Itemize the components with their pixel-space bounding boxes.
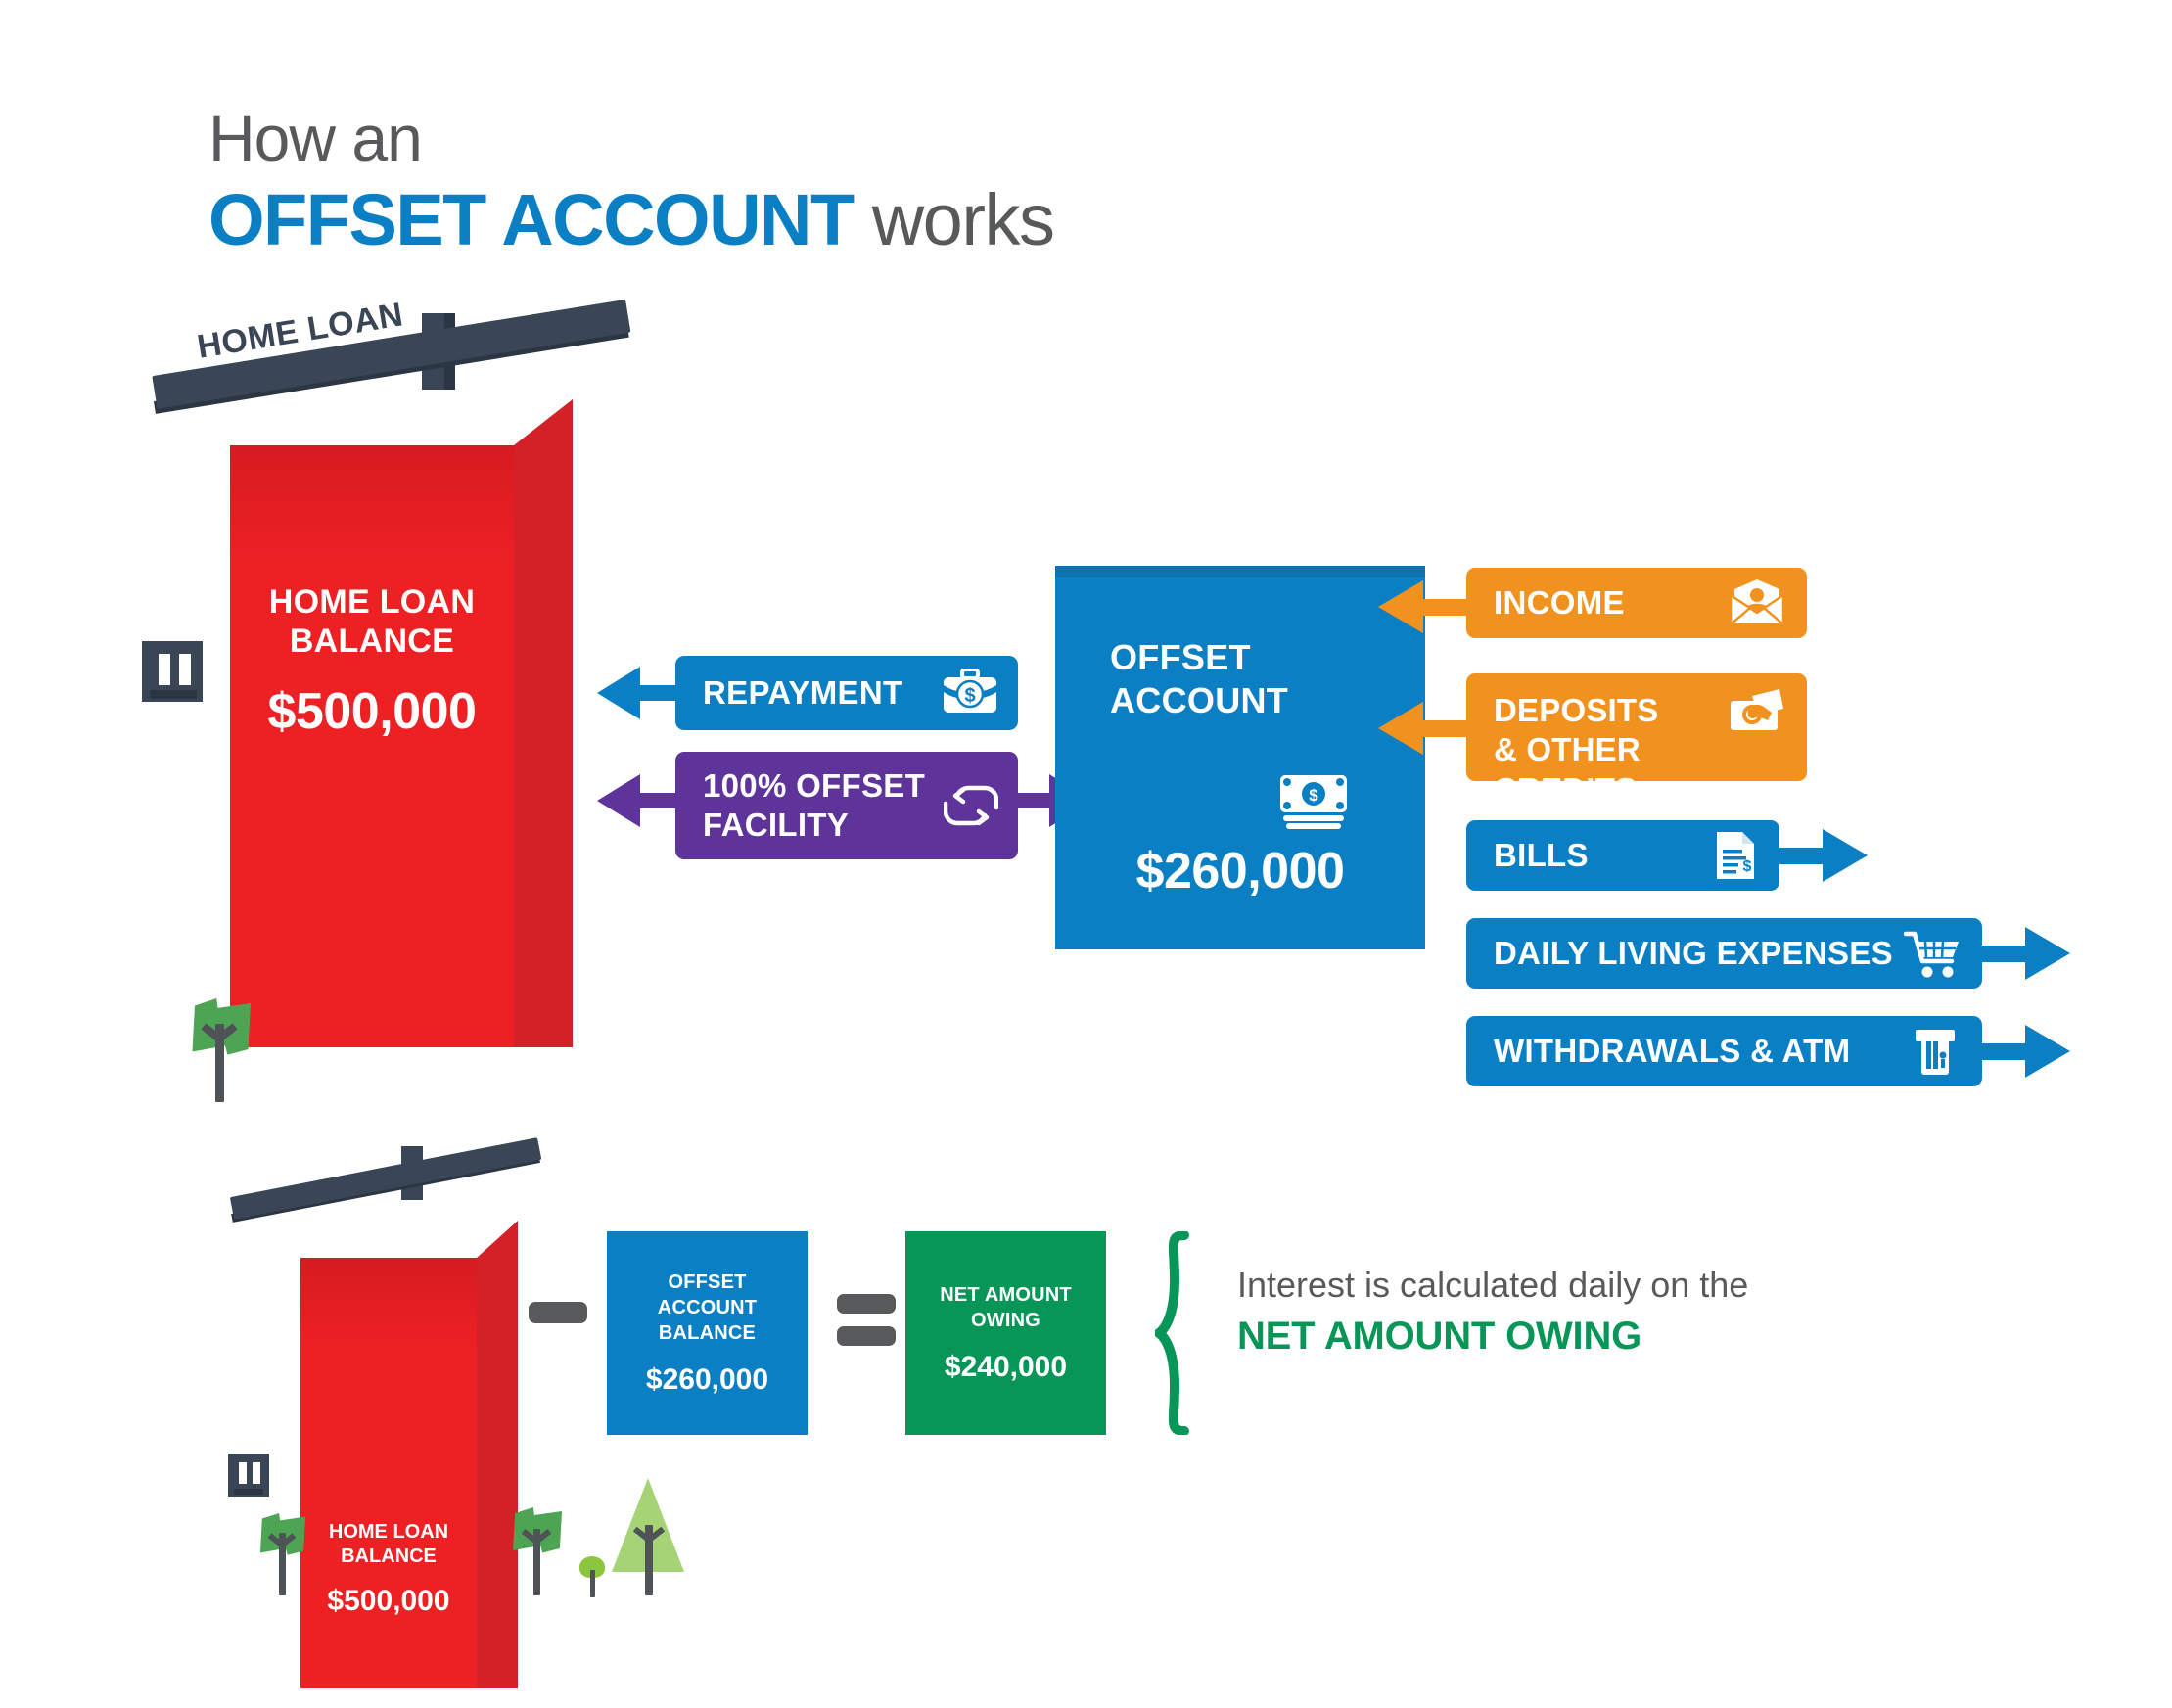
repayment-label: REPAYMENT [703,674,942,712]
deposits-pill[interactable]: DEPOSITS & OTHER CREDITS [1466,673,1807,781]
page-title: How an OFFSET ACCOUNT works [208,106,1053,256]
repayment-pill[interactable]: REPAYMENT $ [675,656,1018,730]
offset-account-title-1: OFFSET [1110,637,1251,677]
equation-offset-amount: $260,000 [646,1363,768,1397]
equation-house-side-wall [477,1221,518,1688]
svg-text:$: $ [1309,786,1318,805]
shopping-cart-icon [1904,928,1961,979]
svg-text:$: $ [1743,858,1752,875]
house-side-wall [514,399,573,1047]
offset-account-box: OFFSET ACCOUNT $ $260,000 [1055,566,1425,949]
title-line-2: OFFSET ACCOUNT works [208,184,1053,256]
equation-offset-card: OFFSET ACCOUNT BALANCE $260,000 [607,1231,808,1435]
equation-offset-label: OFFSET ACCOUNT BALANCE [658,1269,757,1346]
income-envelope-icon [1729,579,1785,626]
equation-house-label-1: HOME LOAN [300,1520,477,1545]
income-label: INCOME [1494,584,1729,622]
home-loan-balance-label-2: BALANCE [230,622,514,661]
withdrawals-atm-pill[interactable]: WITHDRAWALS & ATM [1466,1016,1982,1086]
bills-arrow-shaft [1772,848,1828,864]
equation-house-window [228,1454,269,1497]
repayment-arrow-head [597,667,640,719]
offset-account-title: OFFSET ACCOUNT [1110,636,1288,722]
offset-facility-arrow-head-left [597,774,640,827]
minus-symbol [529,1302,587,1323]
equals-symbol [837,1294,896,1349]
interest-note-line-1: Interest is calculated daily on the [1237,1263,1748,1307]
daily-living-arrow-shaft [1974,946,2031,962]
equation-offset-label-3: BALANCE [659,1322,756,1344]
tree-icon [186,998,256,1106]
interest-note-line-2: NET AMOUNT OWING [1237,1315,1748,1359]
equation-net-amount: $240,000 [945,1351,1067,1384]
bills-arrow-head [1823,829,1868,882]
equation-net-label: NET AMOUNT OWING [940,1282,1072,1333]
offset-facility-pill[interactable]: 100% OFFSET FACILITY [675,752,1018,859]
briefcase-dollar-icon: $ [942,669,998,717]
equation-house-text: HOME LOAN BALANCE $500,000 [300,1520,477,1618]
daily-living-expenses-label: DAILY LIVING EXPENSES [1494,935,1904,972]
equation-house-shading [300,1258,477,1346]
home-loan-balance-amount: $500,000 [230,682,514,741]
cash-stack-icon: $ [1278,773,1349,835]
offset-account-title-2: ACCOUNT [1110,680,1288,720]
deposits-label-2: & OTHER CREDITS [1494,731,1641,807]
withdrawals-atm-label: WITHDRAWALS & ATM [1494,1033,1910,1070]
bills-pill[interactable]: BILLS $ [1466,820,1779,891]
offset-facility-label: 100% OFFSET FACILITY [703,766,944,846]
daily-living-arrow-head [2025,927,2070,980]
tree-icon [509,1507,570,1600]
pine-tree-icon [612,1478,684,1600]
withdrawals-arrow-shaft [1974,1043,2031,1060]
equation-house-amount: $500,000 [300,1585,477,1618]
tree-icon [256,1513,315,1601]
hand-deposit-icon [1729,687,1785,734]
bill-document-icon: $ [1713,830,1758,881]
equation-house-label-2: BALANCE [300,1545,477,1569]
offset-account-top-edge [1055,566,1425,577]
equation-roof [230,1137,542,1220]
deposits-label: DEPOSITS & OTHER CREDITS [1494,691,1729,809]
equation-offset-label-1: OFFSET [668,1271,746,1293]
bush-icon [576,1556,609,1601]
offset-facility-label-2: FACILITY [703,807,849,843]
home-loan-balance-block: HOME LOAN BALANCE $500,000 [230,582,514,741]
offset-loop-icon [944,782,998,829]
daily-living-expenses-pill[interactable]: DAILY LIVING EXPENSES [1466,918,1982,989]
income-pill[interactable]: INCOME [1466,568,1807,638]
house-front-wall [230,445,514,1047]
house-window [142,641,203,702]
equation-offset-label-2: ACCOUNT [658,1297,757,1318]
offset-account-amount: $260,000 [1055,842,1425,900]
equation-net-label-1: NET AMOUNT [940,1284,1072,1306]
equation-net-card: NET AMOUNT OWING $240,000 [905,1231,1106,1435]
title-line-1: How an [208,106,1053,170]
equation-net-label-2: OWING [971,1310,1040,1331]
withdrawals-arrow-head [2025,1025,2070,1078]
deposits-arrow-head [1378,702,1423,755]
atm-card-icon [1910,1026,1961,1077]
interest-note: Interest is calculated daily on the NET … [1237,1263,1748,1359]
income-arrow-head [1378,580,1423,633]
curly-brace [1155,1231,1202,1435]
title-suffix: works [854,179,1054,260]
bills-label: BILLS [1494,837,1713,874]
home-loan-balance-label-1: HOME LOAN [230,582,514,622]
svg-text:$: $ [964,685,975,707]
deposits-label-1: DEPOSITS [1494,692,1658,728]
offset-facility-label-1: 100% OFFSET [703,767,925,804]
title-brand: OFFSET ACCOUNT [208,179,854,260]
